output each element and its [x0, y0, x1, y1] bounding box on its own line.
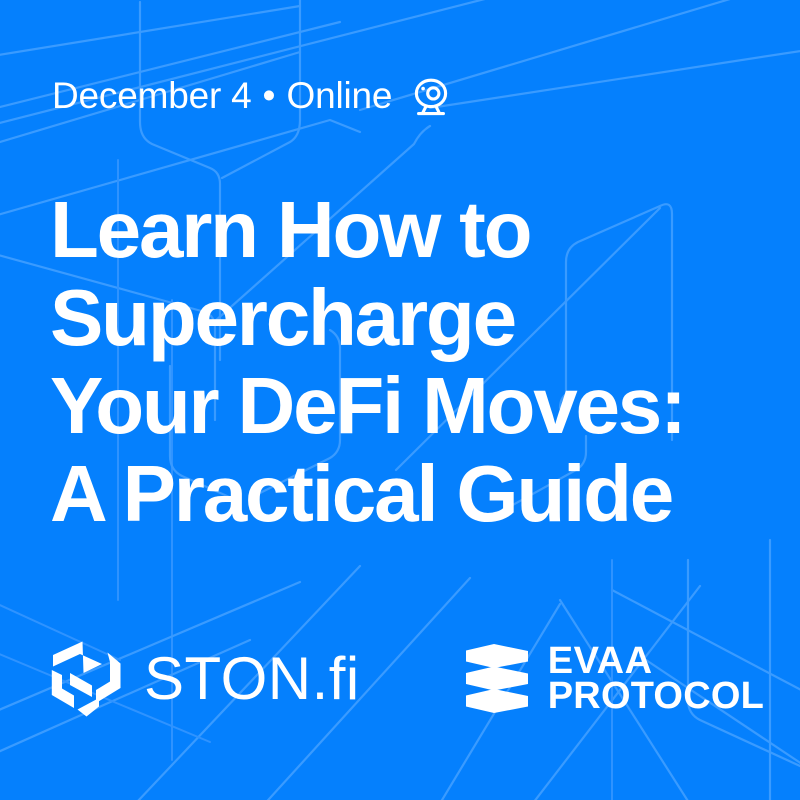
webcam-icon — [410, 76, 452, 118]
logo-strip: STON.fi EVAA PROTOCOL — [50, 640, 764, 718]
headline-line-3: Your DeFi Moves: — [50, 362, 770, 450]
meta-separator-dot: • — [263, 77, 276, 114]
headline-line-4: A Practical Guide — [50, 450, 770, 538]
evaa-wordmark-line-1: EVAA — [548, 644, 764, 679]
logo-evaa-protocol[interactable]: EVAA PROTOCOL — [464, 642, 764, 716]
event-date: December 4 — [52, 77, 252, 114]
headline-line-2: Supercharge — [50, 274, 770, 362]
evaa-stacked-slabs-icon — [464, 642, 530, 716]
ston-fi-wordmark: STON.fi — [144, 649, 360, 709]
evaa-wordmark: EVAA PROTOCOL — [548, 644, 764, 714]
ston-fi-gem-icon — [50, 640, 124, 718]
event-format: Online — [287, 77, 393, 114]
promo-card: .ln { fill:none; stroke:#3A9BFF; stroke-… — [0, 0, 800, 800]
event-meta-row: December 4 • Online — [52, 68, 452, 122]
evaa-wordmark-line-2: PROTOCOL — [548, 679, 764, 714]
logo-ston-fi[interactable]: STON.fi — [50, 640, 360, 718]
headline: Learn How to Supercharge Your DeFi Moves… — [50, 186, 770, 538]
headline-line-1: Learn How to — [50, 186, 770, 274]
